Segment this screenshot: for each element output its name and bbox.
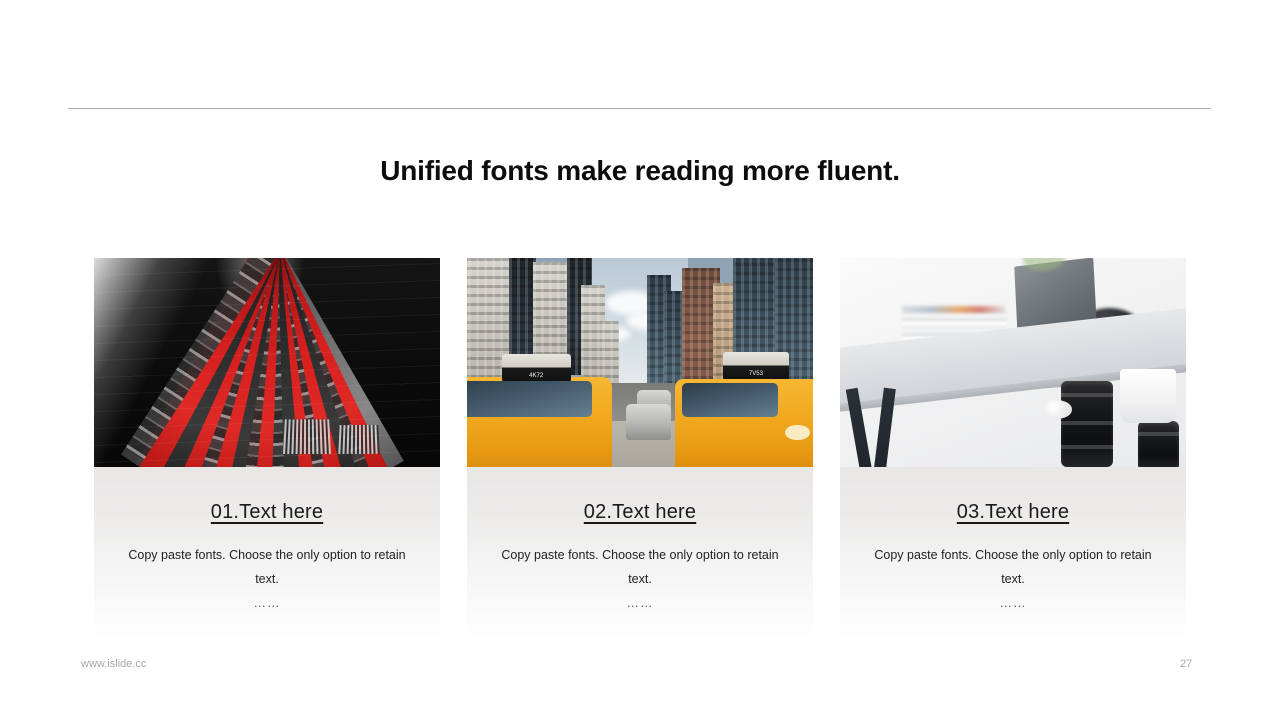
card-description: Copy paste fonts. Choose the only option…	[94, 543, 440, 592]
presentation-slide: Unified fonts make reading more fluent.	[0, 0, 1280, 720]
camera-lens-large	[1061, 381, 1113, 467]
footer-website[interactable]: www.islide.cc	[81, 658, 146, 670]
card-03[interactable]: 03.Text here Copy paste fonts. Choose th…	[840, 258, 1186, 638]
header-divider	[68, 108, 1211, 109]
slide-page-number: 27	[1180, 658, 1192, 670]
card-ellipsis: ……	[840, 596, 1186, 610]
card-body: 03.Text here Copy paste fonts. Choose th…	[840, 467, 1186, 638]
white-desk-laptop-workspace-photo	[840, 258, 1186, 467]
card-body: 02.Text here Copy paste fonts. Choose th…	[467, 467, 813, 638]
headlight	[785, 425, 809, 440]
distant-suv	[626, 404, 671, 440]
mouse	[1041, 400, 1072, 419]
card-heading[interactable]: 01.Text here	[211, 501, 323, 524]
page-title: Unified fonts make reading more fluent.	[0, 155, 1280, 187]
card-ellipsis: ……	[94, 596, 440, 610]
camera-lens-small	[1138, 421, 1180, 467]
nyc-yellow-taxi-street-photo: 4K72 7V53	[467, 258, 813, 467]
card-ellipsis: ……	[467, 596, 813, 610]
cards-row: 01.Text here Copy paste fonts. Choose th…	[94, 258, 1186, 638]
balcony-railing	[283, 419, 331, 454]
taxi-windshield	[682, 383, 779, 416]
card-description: Copy paste fonts. Choose the only option…	[467, 543, 813, 592]
card-01[interactable]: 01.Text here Copy paste fonts. Choose th…	[94, 258, 440, 638]
taxi-windshield	[467, 381, 592, 417]
card-description: Copy paste fonts. Choose the only option…	[840, 543, 1186, 592]
red-black-skyscraper-photo	[94, 258, 440, 467]
card-heading[interactable]: 03.Text here	[957, 501, 1069, 524]
white-mug	[1120, 369, 1175, 423]
card-heading[interactable]: 02.Text here	[584, 501, 696, 524]
card-02[interactable]: 4K72 7V53 02.Text here Copy paste fonts.…	[467, 258, 813, 638]
balcony-railing	[338, 425, 379, 454]
card-body: 01.Text here Copy paste fonts. Choose th…	[94, 467, 440, 638]
taxi-roof-sign-right: 7V53	[723, 352, 789, 379]
taxi-roof-sign-left: 4K72	[502, 354, 571, 381]
